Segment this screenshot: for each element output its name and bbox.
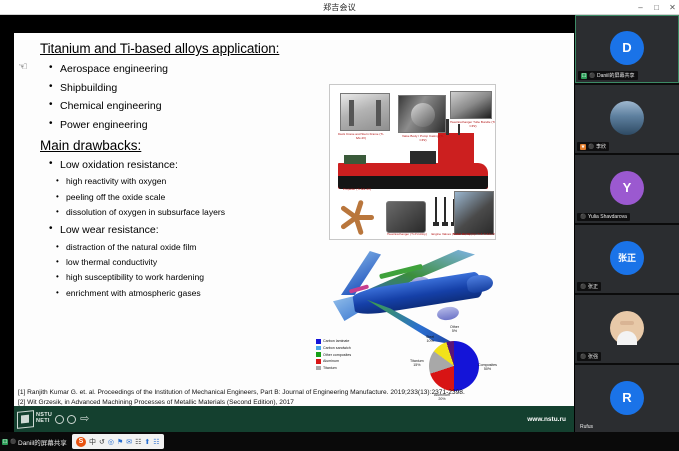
mouse-cursor-icon: ☜ — [18, 62, 30, 76]
list-item: Shipbuilding — [49, 82, 330, 94]
screen-share-icon: ☐ — [581, 73, 587, 79]
legend-item: Carbon sandwich — [316, 346, 351, 351]
footer-url: www.nstu.ru — [527, 416, 566, 423]
pie-slice-label-composites: Composites 50% — [478, 363, 497, 372]
microphone-muted-icon: ⚫ — [580, 354, 586, 360]
participant-label: ⚫ 张强 — [577, 352, 601, 361]
microphone-muted-icon: ⚫ — [588, 144, 594, 150]
taskbar-share-indicator[interactable]: ☐ ⚫ Daniil的屏幕共享 — [2, 434, 67, 449]
avatar — [610, 101, 644, 135]
pie-slice-label-steel: Steel 10% — [426, 335, 434, 344]
window-titlebar: 郑吉会议 – □ ✕ — [0, 0, 679, 15]
fig-caption: Heat Exchanger (Ti-Pd Alloy) — [384, 233, 430, 237]
window-title: 郑吉会议 — [323, 2, 356, 13]
list-item: Power engineering — [49, 119, 330, 131]
avatar: D — [610, 31, 644, 65]
pie-cat: Titanium — [410, 359, 424, 363]
maximize-icon[interactable]: □ — [652, 2, 661, 13]
video-tile-0[interactable]: D ☐ ⚫ Daniil的屏幕共享 — [575, 15, 679, 83]
ime-update-icon[interactable]: ⬆ — [144, 438, 150, 446]
drawback-group-wear: Low wear resistance: distraction of the … — [40, 224, 330, 299]
fig-caption: Heat Exchanger Tube Bundle (Ti-CP2) — [450, 121, 496, 129]
slide-footer: NSTU NETI www.nstu.ru — [14, 406, 574, 432]
participant-name: 张强 — [588, 353, 598, 360]
drawback-group-oxidation: Low oxidation resistance: high reactivit… — [40, 159, 330, 218]
propeller-photo — [336, 197, 380, 237]
drawback-title-list: Low wear resistance: — [49, 224, 330, 236]
os-taskbar[interactable]: ☐ ⚫ Daniil的屏幕共享 S 中 ↺ ◎ ⚑ ✉ ☷ ⬆ ☷ — [0, 432, 679, 451]
ship-bow-gear — [344, 155, 366, 164]
avatar — [610, 311, 644, 345]
chart-legend: Carbon laminate Carbon sandwich Other co… — [316, 339, 351, 372]
pie-slice-label-other: Other 5% — [450, 325, 459, 334]
participant-label: ⚫ Yulia Shavdarova — [577, 213, 630, 221]
metal-bar-photo — [450, 91, 492, 119]
participant-name: Daniil的屏幕共享 — [597, 72, 635, 79]
list-item: Aerospace engineering — [49, 63, 330, 75]
shared-screen-stage[interactable]: Titanium and Ti-based alloys application… — [0, 15, 575, 432]
list-item: peeling off the oxide scale — [56, 193, 330, 203]
legend-swatch — [316, 346, 321, 351]
participant-name: Yulia Shavdarova — [588, 214, 627, 220]
list-item: distraction of the natural oxide film — [56, 243, 330, 253]
ship-components-figure: Deck Crane and Stern Frame (Ti-6Al-4V) V… — [329, 84, 496, 240]
drawback-sub-list: distraction of the natural oxide film lo… — [56, 243, 330, 299]
video-tile-3[interactable]: 张正 ⚫ 张正 — [575, 225, 679, 293]
drawback-sub-list: high reactivity with oxygen peeling off … — [56, 177, 330, 218]
pie-slice-label-titanium: Titanium 15% — [410, 359, 424, 368]
cube-icon — [17, 410, 34, 429]
avatar: Y — [610, 171, 644, 205]
list-item: dissolution of oxygen in subsurface laye… — [56, 208, 330, 218]
circle-icon — [55, 415, 64, 424]
minimize-icon[interactable]: – — [636, 2, 645, 13]
list-item: high reactivity with oxygen — [56, 177, 330, 187]
ime-toolbar[interactable]: S 中 ↺ ◎ ⚑ ✉ ☷ ⬆ ☷ — [72, 434, 164, 449]
circle-icon — [67, 415, 76, 424]
legend-label: Aluminum — [323, 359, 339, 363]
fig-caption: Sonar Dome (Cp-Ti & Ti-6Al-4V) — [452, 233, 496, 237]
microphone-muted-icon: ⚫ — [580, 284, 586, 290]
application-list: Aerospace engineering Shipbuilding Chemi… — [49, 63, 330, 131]
presentation-slide[interactable]: Titanium and Ti-based alloys application… — [14, 33, 574, 432]
avatar-initial: Y — [623, 180, 632, 195]
ime-mode-icon[interactable]: 中 — [89, 437, 96, 447]
participant-label: Rufus — [577, 423, 596, 431]
participant-name: 李欣 — [596, 143, 606, 150]
ime-punctuation-icon[interactable]: ↺ — [99, 438, 105, 446]
microphone-icon: ⚫ — [10, 439, 16, 445]
legend-label: Carbon sandwich — [323, 346, 351, 350]
list-item: Chemical engineering — [49, 100, 330, 112]
microphone-icon: ⚫ — [589, 73, 595, 79]
legend-item: Aluminum — [316, 359, 351, 364]
legend-label: Titanium — [323, 366, 337, 370]
avatar: 张正 — [610, 241, 644, 275]
pie-val: 5% — [452, 329, 457, 333]
fig-caption: Valve Body / Pump Casing (Ti-CP2) — [400, 135, 446, 143]
list-item: enrichment with atmospheric gases — [56, 289, 330, 299]
arrow-icon — [80, 414, 88, 424]
avatar: R — [610, 381, 644, 415]
deck-crane-photo — [340, 93, 390, 131]
reference-item: [1] Ranjith Kumar G. et. al. Proceedings… — [18, 388, 570, 398]
legend-label: Carbon laminate — [323, 339, 349, 343]
slide-text-column: Titanium and Ti-based alloys application… — [40, 41, 330, 305]
pie-val: 10% — [427, 339, 434, 343]
list-item: low thermal conductivity — [56, 258, 330, 268]
legend-item: Other composites — [316, 352, 351, 357]
participant-filmstrip[interactable]: D ☐ ⚫ Daniil的屏幕共享 ★ ⚫ 李欣 Y ⚫ Yulia Shavd… — [575, 15, 679, 432]
nstu-logo: NSTU NETI — [17, 411, 88, 428]
ship-deck-gear — [410, 151, 436, 164]
avatar-initial: 张正 — [618, 251, 636, 264]
ime-inbox-icon[interactable]: ✉ — [126, 438, 132, 446]
legend-swatch — [316, 359, 321, 364]
ime-toolbox-icon[interactable]: ☷ — [135, 438, 141, 446]
ship-hull — [338, 163, 488, 189]
logo-text: NSTU NETI — [36, 413, 52, 425]
screen-share-icon: ☐ — [2, 439, 8, 445]
legend-swatch — [316, 339, 321, 344]
microphone-muted-icon: ⚫ — [580, 214, 586, 220]
ime-settings-icon[interactable]: ◎ — [108, 438, 114, 446]
avatar-initial: R — [622, 390, 631, 405]
host-badge-icon: ★ — [580, 144, 586, 150]
sonar-dome-photo — [454, 191, 494, 235]
drawbacks-headline: Main drawbacks: — [40, 138, 330, 153]
references-block: [1] Ranjith Kumar G. et. al. Proceedings… — [18, 388, 570, 407]
close-icon[interactable]: ✕ — [668, 2, 677, 13]
legend-swatch — [316, 366, 321, 371]
legend-label: Other composites — [323, 353, 351, 357]
pie-cat: Composites — [478, 363, 497, 367]
sogou-logo-icon[interactable]: S — [76, 437, 86, 447]
fig-caption: Propeller (Ti-6Al-4V) — [334, 188, 380, 192]
video-tile-5[interactable]: R Rufus — [575, 365, 679, 432]
heat-exchanger-photo — [386, 201, 426, 233]
participant-name: 张正 — [588, 283, 598, 290]
legend-item: Titanium — [316, 366, 351, 371]
fig-caption: Deck Crane and Stern Frame (Ti-6Al-4V) — [338, 133, 384, 141]
taskbar-share-label: Daniil的屏幕共享 — [18, 437, 67, 447]
pie-val: 15% — [413, 363, 420, 367]
list-item: Low wear resistance: — [49, 224, 330, 236]
pie-cat: Steel — [426, 335, 434, 339]
video-tile-2[interactable]: Y ⚫ Yulia Shavdarova — [575, 155, 679, 223]
list-item: high susceptibility to work hardening — [56, 273, 330, 283]
plane-engine-near — [436, 305, 460, 321]
slide-headline: Titanium and Ti-based alloys application… — [40, 41, 330, 56]
pie-graphic — [429, 341, 479, 391]
window-controls: – □ ✕ — [636, 0, 677, 15]
video-tile-4[interactable]: ⚫ 张强 — [575, 295, 679, 363]
participant-label: ★ ⚫ 李欣 — [577, 142, 609, 151]
pie-val: 50% — [484, 367, 491, 371]
participant-name: Rufus — [580, 424, 593, 430]
legend-item: Carbon laminate — [316, 339, 351, 344]
drawback-title-list: Low oxidation resistance: — [49, 159, 330, 171]
ime-voice-icon[interactable]: ⚑ — [117, 438, 123, 446]
participant-label: ☐ ⚫ Daniil的屏幕共享 — [578, 71, 638, 80]
plane-nose — [466, 273, 494, 294]
ime-menu-icon[interactable]: ☷ — [153, 438, 159, 446]
avatar-initial: D — [622, 40, 631, 55]
logo-line-2: NETI — [36, 419, 52, 425]
list-item: Low oxidation resistance: — [49, 159, 330, 171]
video-tile-1[interactable]: ★ ⚫ 李欣 — [575, 85, 679, 153]
pie-cat: Other — [450, 325, 459, 329]
participant-label: ⚫ 张正 — [577, 282, 601, 291]
legend-swatch — [316, 352, 321, 357]
valve-body-photo — [398, 95, 446, 133]
